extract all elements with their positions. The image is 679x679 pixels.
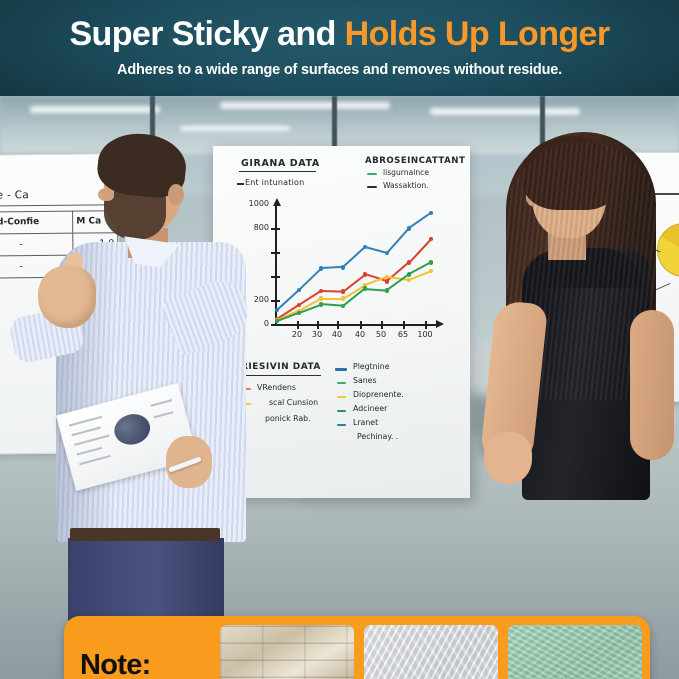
chart-line-2 <box>408 238 432 263</box>
person-presenter <box>18 136 248 606</box>
y-axis-arrow <box>273 198 281 206</box>
chart-line-1 <box>386 228 410 254</box>
page-title-part1: Super Sticky and <box>69 15 344 53</box>
chart-point-1-5 <box>385 251 389 255</box>
note-tiles: UNEVEN SUBSTRATES DIATOMACEOUS EARTH WAL… <box>220 625 642 679</box>
whiteboard-main: GIRANA DATA Ent intunation ABROSEINCATTA… <box>213 146 470 498</box>
chart-line-2 <box>321 290 343 293</box>
chart-line-1 <box>298 268 321 291</box>
chart-point-2-1 <box>297 303 301 307</box>
legend-bottom-title: RIESIVIN DATA <box>241 362 321 372</box>
legend-swatch <box>337 382 346 384</box>
note-tile-diatomaceous-earth-walls: DIATOMACEOUS EARTH WALLS <box>364 625 498 679</box>
chart-point-4-7 <box>429 260 433 264</box>
header-banner: Super Sticky and Holds Up Longer Adheres… <box>0 0 679 96</box>
x-tick-label-4: 40 <box>351 330 369 339</box>
line-chart: 0 200 800 1000 20 30 40 40 50 65 100 <box>253 202 449 342</box>
chart-subtitle: Ent intunation <box>245 178 304 187</box>
chart-point-4-3 <box>341 304 345 308</box>
x-tick-label-7: 100 <box>416 330 434 339</box>
chart-point-3-6 <box>407 278 411 282</box>
y-tick <box>271 300 280 302</box>
legend-br-item-1: Sanes <box>353 376 377 385</box>
y-tick <box>271 324 280 326</box>
colleague-arm-right <box>630 310 674 460</box>
x-axis-arrow <box>436 320 444 328</box>
legend-swatch <box>367 173 377 175</box>
chart-point-1-4 <box>363 245 367 249</box>
chart-point-4-1 <box>297 311 301 315</box>
presenter-belt <box>70 528 220 541</box>
chart-point-2-6 <box>407 260 411 264</box>
x-tick-label-6: 65 <box>394 330 412 339</box>
legend-swatch <box>337 410 346 412</box>
ceiling-light <box>30 106 160 113</box>
chart-point-4-2 <box>319 302 323 306</box>
chart-point-1-1 <box>297 288 301 292</box>
legend-top-title: ABROSEINCATTANT <box>365 156 465 166</box>
paper-line <box>69 416 102 426</box>
paper-line <box>150 399 172 406</box>
y-tick-label-0: 0 <box>251 319 269 328</box>
chart-point-2-5 <box>385 279 389 283</box>
chart-line-1 <box>321 266 343 269</box>
legend-br-item-4: Lranet <box>353 418 378 427</box>
legend-br-item-2: Dioprenente. <box>353 390 404 399</box>
note-text-block: Note: Not suitable for <box>80 650 220 679</box>
chart-title: GIRANA DATA <box>241 158 320 169</box>
chart-line-4 <box>321 303 343 307</box>
chart-line-3 <box>321 298 343 300</box>
page-title-part2: Holds Up Longer <box>345 15 610 53</box>
chart-point-1-2 <box>319 266 323 270</box>
x-tick-label-2: 30 <box>308 330 326 339</box>
chart-point-4-0 <box>275 319 279 323</box>
ceiling-light <box>180 126 290 131</box>
legend-bl-item-2: ponick Rab. <box>265 414 311 423</box>
legend-swatch <box>367 186 377 188</box>
legend-br-item-0: Plegtnine <box>353 362 390 371</box>
chart-point-2-2 <box>319 289 323 293</box>
legend-bottom-underline <box>239 375 321 376</box>
y-tick <box>271 228 280 230</box>
ceiling-light <box>430 108 580 115</box>
chart-point-2-3 <box>341 289 345 293</box>
paper-line <box>79 455 110 465</box>
legend-bl-item-0: VRendens <box>257 383 296 392</box>
page-title: Super Sticky and Holds Up Longer <box>0 14 679 54</box>
y-tick <box>271 252 280 254</box>
x-tick-label-1: 20 <box>288 330 306 339</box>
product-photo-scene: Stinle - Ca Acoud-Confie M Ca - 1.0 - 5 … <box>0 96 679 679</box>
paper-line <box>71 427 100 436</box>
chart-point-1-7 <box>429 211 433 215</box>
chart-point-3-2 <box>319 296 323 300</box>
legend-swatch <box>337 424 346 426</box>
chart-point-4-4 <box>363 286 367 290</box>
note-tile-painted-walls: PAINTED WALLS <box>508 625 642 679</box>
legend-br-item-3: Adcineer <box>353 404 387 413</box>
x-tick <box>360 321 362 329</box>
chart-point-3-3 <box>341 296 345 300</box>
colleague-hand <box>484 432 532 484</box>
x-tick <box>337 321 339 329</box>
chart-point-1-6 <box>407 226 411 230</box>
chart-point-3-7 <box>429 269 433 273</box>
note-tile-uneven-substrates: UNEVEN SUBSTRATES <box>220 625 354 679</box>
ceiling-light <box>220 102 390 109</box>
chart-point-4-5 <box>385 288 389 292</box>
note-heading: Note: <box>80 650 220 679</box>
chart-line-1 <box>408 212 431 229</box>
y-tick <box>271 276 280 278</box>
legend-swatch <box>337 396 346 398</box>
note-banner: Note: Not suitable for UNEVEN SUBSTRATES… <box>64 616 650 679</box>
x-tick <box>317 321 319 329</box>
x-tick <box>297 321 299 329</box>
paper-graphic <box>111 410 154 448</box>
chart-point-2-7 <box>429 237 433 241</box>
page-subtitle: Adheres to a wide range of surfaces and … <box>0 62 679 78</box>
x-tick <box>425 321 427 329</box>
x-axis <box>275 324 439 326</box>
legend-top-item-1: Wassaktion. <box>383 181 429 190</box>
chart-line-1 <box>342 247 365 269</box>
legend-top-item-0: lisgurnaince <box>383 168 429 177</box>
chart-title-underline <box>239 171 316 172</box>
chart-line-1 <box>365 246 388 254</box>
person-colleague <box>470 132 679 612</box>
x-tick-label-5: 50 <box>372 330 390 339</box>
presenter-pointing-hand <box>38 266 96 328</box>
presenter-ear <box>168 184 184 205</box>
chart-point-2-4 <box>363 272 367 276</box>
legend-bl-item-1: scal Cunsion <box>269 398 318 407</box>
paper-line <box>74 435 109 446</box>
chart-line-4 <box>365 288 387 292</box>
chart-point-1-0 <box>275 308 279 312</box>
chart-point-1-3 <box>341 265 345 269</box>
chart-point-4-6 <box>407 272 411 276</box>
x-tick-label-3: 40 <box>328 330 346 339</box>
x-tick <box>403 321 405 329</box>
x-tick <box>381 321 383 329</box>
paper-line <box>77 447 103 455</box>
legend-br-item-5: Pechinay. . <box>357 432 398 441</box>
paper-line <box>154 411 174 418</box>
legend-swatch <box>335 368 347 371</box>
